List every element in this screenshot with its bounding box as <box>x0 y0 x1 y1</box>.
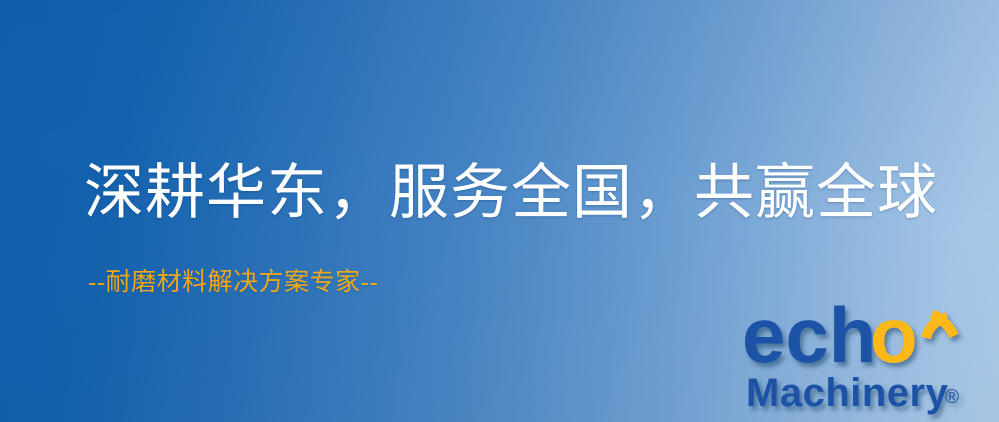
logo-registered-trademark-icon: ® <box>945 387 959 408</box>
logo-text-o: o <box>870 291 918 379</box>
logo-text-ech: ech <box>742 291 876 379</box>
hero-banner: 深耕华东，服务全国，共赢全球 --耐磨材料解决方案专家-- ech o <box>0 0 999 422</box>
logo-text-machinery: Machinery <box>746 371 949 415</box>
company-logo[interactable]: ech o Machinery ® <box>742 300 994 418</box>
logo-wordmark-echo-group: ech o <box>742 291 954 379</box>
echo-wave-icon <box>926 314 954 338</box>
banner-headline: 深耕华东，服务全国，共赢全球 <box>84 158 938 228</box>
banner-subheadline: --耐磨材料解决方案专家-- <box>88 268 378 298</box>
logo-wordmark-machinery-group: Machinery ® <box>746 371 959 415</box>
